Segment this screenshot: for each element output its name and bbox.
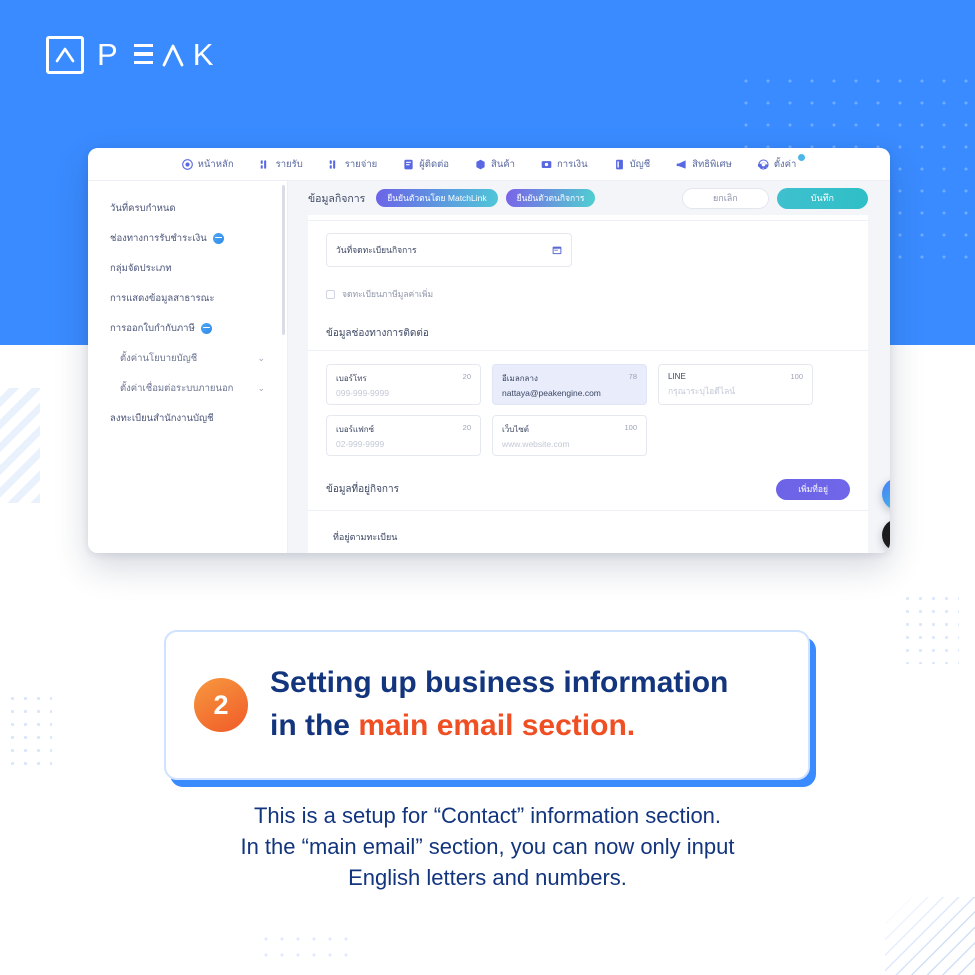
website-field[interactable]: เว็บไซต์ 100 www.website.com [492, 415, 647, 456]
nav-label-home: หน้าหลัก [198, 157, 234, 172]
fax-maxlen: 20 [463, 423, 471, 432]
nav-label-finance: การเงิน [557, 157, 588, 172]
vat-checkbox-label: จดทะเบียนภาษีมูลค่าเพิ่ม [342, 287, 433, 301]
sidebar-label: ช่องทางการรับชำระเงิน [110, 231, 207, 246]
registered-address-label: ที่อยู่ตามทะเบียน [326, 511, 850, 544]
decoration-diagonals-bottom-right [885, 897, 975, 975]
vat-checkbox[interactable] [326, 290, 335, 299]
callout-line-2-highlight: main email section. [358, 709, 635, 742]
sidebar-item-due-date[interactable]: วันที่ครบกำหนด [110, 193, 287, 223]
cancel-button[interactable]: ยกเลิก [682, 188, 769, 209]
callout-line-2-prefix: in the [270, 709, 358, 742]
step-number-badge: 2 [194, 678, 248, 732]
nav-item-expense[interactable]: รายจ่าย [316, 157, 390, 172]
nav-item-settings[interactable]: ตั้งค่า [745, 157, 810, 172]
accounting-icon [614, 159, 625, 170]
info-bubble-icon [201, 323, 212, 334]
nav-item-accounting[interactable]: บัญชี [601, 157, 664, 172]
main-email-maxlen: 78 [629, 372, 637, 381]
nav-label-expense: รายจ่าย [345, 157, 377, 172]
main-email-value: nattaya@peakengine.com [502, 388, 637, 398]
sidebar-label: การออกใบกำกับภาษี [110, 321, 195, 336]
expense-icon [329, 159, 340, 170]
fax-value: 02-999-9999 [336, 439, 471, 449]
chevron-down-icon: ⌄ [257, 353, 265, 364]
line-field[interactable]: LINE 100 กรุณาระบุไอดีไลน์ [658, 364, 813, 405]
finance-icon [541, 159, 552, 170]
nav-item-income[interactable]: รายรับ [247, 157, 316, 172]
main-email-field[interactable]: อีเมลกลาง 78 nattaya@peakengine.com [492, 364, 647, 405]
contacts-icon [403, 159, 414, 170]
verify-business-badge[interactable]: ยืนยันตัวตนกิจการ [506, 189, 596, 208]
nav-item-finance[interactable]: การเงิน [528, 157, 601, 172]
sidebar-item-tax-invoice[interactable]: การออกใบกำกับภาษี [110, 313, 287, 343]
phone-field[interactable]: เบอร์โทร 20 099-999-9999 [326, 364, 481, 405]
sidebar-label: กลุ่มจัดประเภท [110, 261, 172, 276]
sidebar-fade-overlay [88, 527, 287, 553]
fax-field[interactable]: เบอร์แฟกซ์ 20 02-999-9999 [326, 415, 481, 456]
sidebar-list: วันที่ครบกำหนด ช่องทางการรับชำระเงิน กลุ… [88, 189, 287, 433]
decoration-stripes-left [0, 388, 40, 503]
phone-value: 099-999-9999 [336, 388, 471, 398]
nav-item-home[interactable]: หน้าหลัก [169, 157, 247, 172]
website-label: เว็บไซต์ [502, 423, 637, 436]
slide-root: P K หน้าหลัก รายรับ [0, 0, 975, 975]
website-maxlen: 100 [624, 423, 637, 432]
page-title: ข้อมูลกิจการ [308, 190, 365, 207]
address-section-header: ข้อมูลที่อยู่กิจการ เพิ่มที่อยู่ [326, 479, 850, 500]
nav-item-products[interactable]: สินค้า [462, 157, 528, 172]
play-fab[interactable] [882, 478, 890, 510]
app-top-nav: หน้าหลัก รายรับ รายจ่าย ผู้ติดต่อ สินค้า… [88, 148, 890, 181]
products-icon [475, 159, 486, 170]
description-line-1: This is a setup for “Contact” informatio… [0, 800, 975, 831]
description-block: This is a setup for “Contact” informatio… [0, 800, 975, 894]
nav-label-income: รายรับ [276, 157, 303, 172]
nav-item-privileges[interactable]: สิทธิพิเศษ [663, 157, 745, 172]
line-label: LINE [668, 372, 803, 381]
income-icon [260, 159, 271, 170]
app-screenshot-card: หน้าหลัก รายรับ รายจ่าย ผู้ติดต่อ สินค้า… [88, 148, 890, 553]
logo-letter-e-icon [134, 44, 153, 66]
registration-date-label: วันที่จดทะเบียนกิจการ [336, 243, 417, 257]
sidebar-label: ลงทะเบียนสำนักงานบัญชี [110, 411, 214, 426]
callout-card: 2 Setting up business information in the… [164, 630, 810, 780]
app-body: วันที่ครบกำหนด ช่องทางการรับชำระเงิน กลุ… [88, 181, 890, 553]
save-button[interactable]: บันทึก [777, 188, 868, 209]
sidebar-item-category-group[interactable]: กลุ่มจัดประเภท [110, 253, 287, 283]
registration-date-field[interactable]: วันที่จดทะเบียนกิจการ [326, 233, 572, 267]
vat-checkbox-row[interactable]: จดทะเบียนภาษีมูลค่าเพิ่ม [326, 287, 850, 301]
megaphone-icon [676, 159, 687, 170]
sidebar-scrollbar[interactable] [282, 185, 285, 335]
contact-section-title: ข้อมูลช่องทางการติดต่อ [326, 326, 850, 341]
nav-label-products: สินค้า [491, 157, 515, 172]
settings-notification-badge [798, 154, 805, 161]
info-bubble-icon [213, 233, 224, 244]
callout-line-2: in the main email section. [270, 705, 728, 748]
sidebar-item-register-accounting-office[interactable]: ลงทะเบียนสำนักงานบัญชี [110, 403, 287, 433]
description-line-2: In the “main email” section, you can now… [0, 831, 975, 862]
sidebar-label: การแสดงข้อมูลสาธารณะ [110, 291, 215, 306]
sidebar-label: ตั้งค่านโยบายบัญชี [120, 351, 197, 366]
decoration-dots-right [901, 592, 959, 664]
decoration-dots-left [6, 692, 52, 772]
line-value: กรุณาระบุไอดีไลน์ [668, 384, 803, 398]
calendar-icon[interactable] [552, 245, 562, 255]
line-maxlen: 100 [790, 372, 803, 381]
nav-label-accounting: บัญชี [630, 157, 651, 172]
peak-logo: P K [46, 36, 220, 74]
callout-text: Setting up business information in the m… [270, 662, 728, 747]
add-address-button[interactable]: เพิ่มที่อยู่ [776, 479, 850, 500]
peak-logo-text: P K [97, 37, 220, 73]
chat-fab[interactable] [882, 519, 890, 551]
logo-letter-p: P [97, 37, 125, 73]
sidebar-label: วันที่ครบกำหนด [110, 201, 176, 216]
nav-label-settings: ตั้งค่า [774, 157, 797, 172]
decoration-dots-bottom [258, 931, 350, 961]
verify-matchlink-badge[interactable]: ยืนยันตัวตนโดย MatchLink [376, 189, 497, 208]
panel-divider [308, 220, 868, 221]
gear-icon [758, 159, 769, 170]
sidebar-item-external-integration[interactable]: ตั้งค่าเชื่อมต่อระบบภายนอก ⌄ [110, 373, 287, 403]
sidebar-item-public-info[interactable]: การแสดงข้อมูลสาธารณะ [110, 283, 287, 313]
panel-header: ข้อมูลกิจการ ยืนยันตัวตนโดย MatchLink ยื… [288, 181, 890, 215]
logo-letter-a [162, 43, 184, 67]
logo-letter-k: K [193, 37, 221, 73]
description-line-3: English letters and numbers. [0, 862, 975, 893]
contact-fields-row-1: เบอร์โทร 20 099-999-9999 อีเมลกลาง 78 na… [326, 364, 850, 405]
nav-label-privileges: สิทธิพิเศษ [692, 157, 732, 172]
nav-label-contacts: ผู้ติดต่อ [419, 157, 449, 172]
chevron-down-icon: ⌄ [257, 383, 265, 394]
home-icon [182, 159, 193, 170]
phone-label: เบอร์โทร [336, 372, 471, 385]
sidebar-label: ตั้งค่าเชื่อมต่อระบบภายนอก [120, 381, 233, 396]
phone-maxlen: 20 [463, 372, 471, 381]
main-email-label: อีเมลกลาง [502, 372, 637, 385]
business-info-panel: วันที่จดทะเบียนกิจการ จดทะเบียนภาษีมูลค่… [308, 208, 868, 553]
callout-line-1: Setting up business information [270, 662, 728, 705]
fax-label: เบอร์แฟกซ์ [336, 423, 471, 436]
section-divider [308, 350, 868, 351]
website-value: www.website.com [502, 439, 637, 449]
settings-sidebar: วันที่ครบกำหนด ช่องทางการรับชำระเงิน กลุ… [88, 181, 288, 553]
contact-fields-row-2: เบอร์แฟกซ์ 20 02-999-9999 เว็บไซต์ 100 w… [326, 415, 850, 456]
nav-item-contacts[interactable]: ผู้ติดต่อ [390, 157, 462, 172]
sidebar-item-accounting-policy[interactable]: ตั้งค่านโยบายบัญชี ⌄ [110, 343, 287, 373]
settings-main: ข้อมูลกิจการ ยืนยันตัวตนโดย MatchLink ยื… [288, 181, 890, 553]
peak-logo-mark-icon [46, 36, 84, 74]
address-section-title: ข้อมูลที่อยู่กิจการ [326, 482, 399, 497]
floating-action-buttons [882, 478, 890, 553]
sidebar-item-payment-channel[interactable]: ช่องทางการรับชำระเงิน [110, 223, 287, 253]
